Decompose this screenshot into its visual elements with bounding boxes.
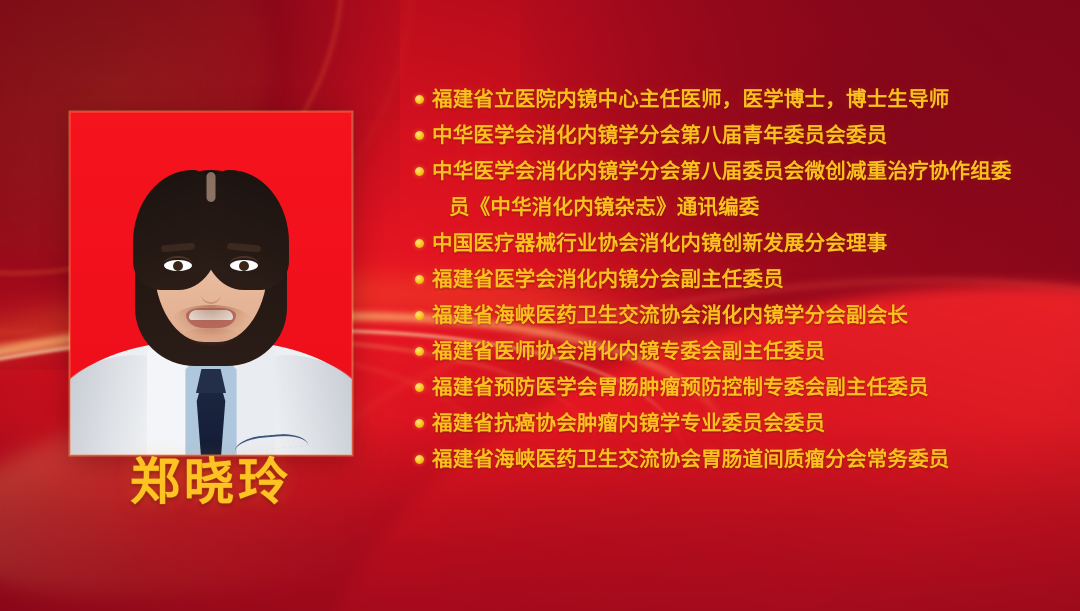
bio-list-item-text: 中国医疗器械行业协会消化内镜创新发展分会理事 bbox=[432, 227, 1055, 260]
bullet-dot-icon bbox=[415, 275, 424, 284]
bio-list-item: 福建省海峡医药卫生交流协会胃肠道间质瘤分会常务委员 bbox=[415, 443, 1055, 476]
bio-list-item-text: 中华医学会消化内镜学分会第八届青年委员会委员 bbox=[432, 119, 1055, 152]
bio-list-item-text: 福建省立医院内镜中心主任医师，医学博士，博士生导师 bbox=[432, 83, 1055, 116]
bio-list-item-text: 福建省医师协会消化内镜专委会副主任委员 bbox=[432, 335, 1055, 368]
bullet-dot-icon bbox=[415, 455, 424, 464]
bio-list-item-text: 福建省海峡医药卫生交流协会消化内镜学分会副会长 bbox=[432, 299, 1055, 332]
bio-list-item: 员《中华消化内镜杂志》通讯编委 bbox=[415, 191, 1055, 224]
bio-list-item-text: 福建省海峡医药卫生交流协会胃肠道间质瘤分会常务委员 bbox=[432, 443, 1055, 476]
bio-list-item: 中国医疗器械行业协会消化内镜创新发展分会理事 bbox=[415, 227, 1055, 260]
bio-list-item-text: 福建省预防医学会胃肠肿瘤预防控制专委会副主任委员 bbox=[432, 371, 1055, 404]
bullet-dot-icon bbox=[415, 131, 424, 140]
bio-list-item-text: 福建省抗癌协会肿瘤内镜学专业委员会委员 bbox=[432, 407, 1055, 440]
bio-list-item: 福建省医师协会消化内镜专委会副主任委员 bbox=[415, 335, 1055, 368]
bullet-dot-icon bbox=[415, 383, 424, 392]
speaker-profile-slide: 郑晓玲 福建省立医院内镜中心主任医师，医学博士，博士生导师中华医学会消化内镜学分… bbox=[0, 0, 1080, 611]
bullet-dot-icon bbox=[415, 95, 424, 104]
bullet-dot-icon bbox=[415, 347, 424, 356]
bullet-dot-icon bbox=[415, 419, 424, 428]
bullet-dot-icon bbox=[415, 167, 424, 176]
bio-list-item: 福建省立医院内镜中心主任医师，医学博士，博士生导师 bbox=[415, 83, 1055, 116]
bio-list-item-text: 中华医学会消化内镜学分会第八届委员会微创减重治疗协作组委 bbox=[432, 155, 1055, 188]
bio-list-item: 中华医学会消化内镜学分会第八届委员会微创减重治疗协作组委 bbox=[415, 155, 1055, 188]
bio-list-item: 中华医学会消化内镜学分会第八届青年委员会委员 bbox=[415, 119, 1055, 152]
bio-list-item: 福建省抗癌协会肿瘤内镜学专业委员会委员 bbox=[415, 407, 1055, 440]
bullet-dot-icon bbox=[415, 311, 424, 320]
bio-list-item: 福建省预防医学会胃肠肿瘤预防控制专委会副主任委员 bbox=[415, 371, 1055, 404]
bullet-dot-icon bbox=[415, 239, 424, 248]
speaker-name: 郑晓玲 bbox=[70, 456, 352, 509]
bio-list-item-text: 员《中华消化内镜杂志》通讯编委 bbox=[432, 191, 1055, 224]
bio-list-item: 福建省海峡医药卫生交流协会消化内镜学分会副会长 bbox=[415, 299, 1055, 332]
bio-list-item: 福建省医学会消化内镜分会副主任委员 bbox=[415, 263, 1055, 296]
bio-list-item-text: 福建省医学会消化内镜分会副主任委员 bbox=[432, 263, 1055, 296]
portrait-border bbox=[70, 112, 352, 455]
bio-list: 福建省立医院内镜中心主任医师，医学博士，博士生导师中华医学会消化内镜学分会第八届… bbox=[415, 83, 1055, 479]
speaker-portrait bbox=[70, 112, 352, 455]
